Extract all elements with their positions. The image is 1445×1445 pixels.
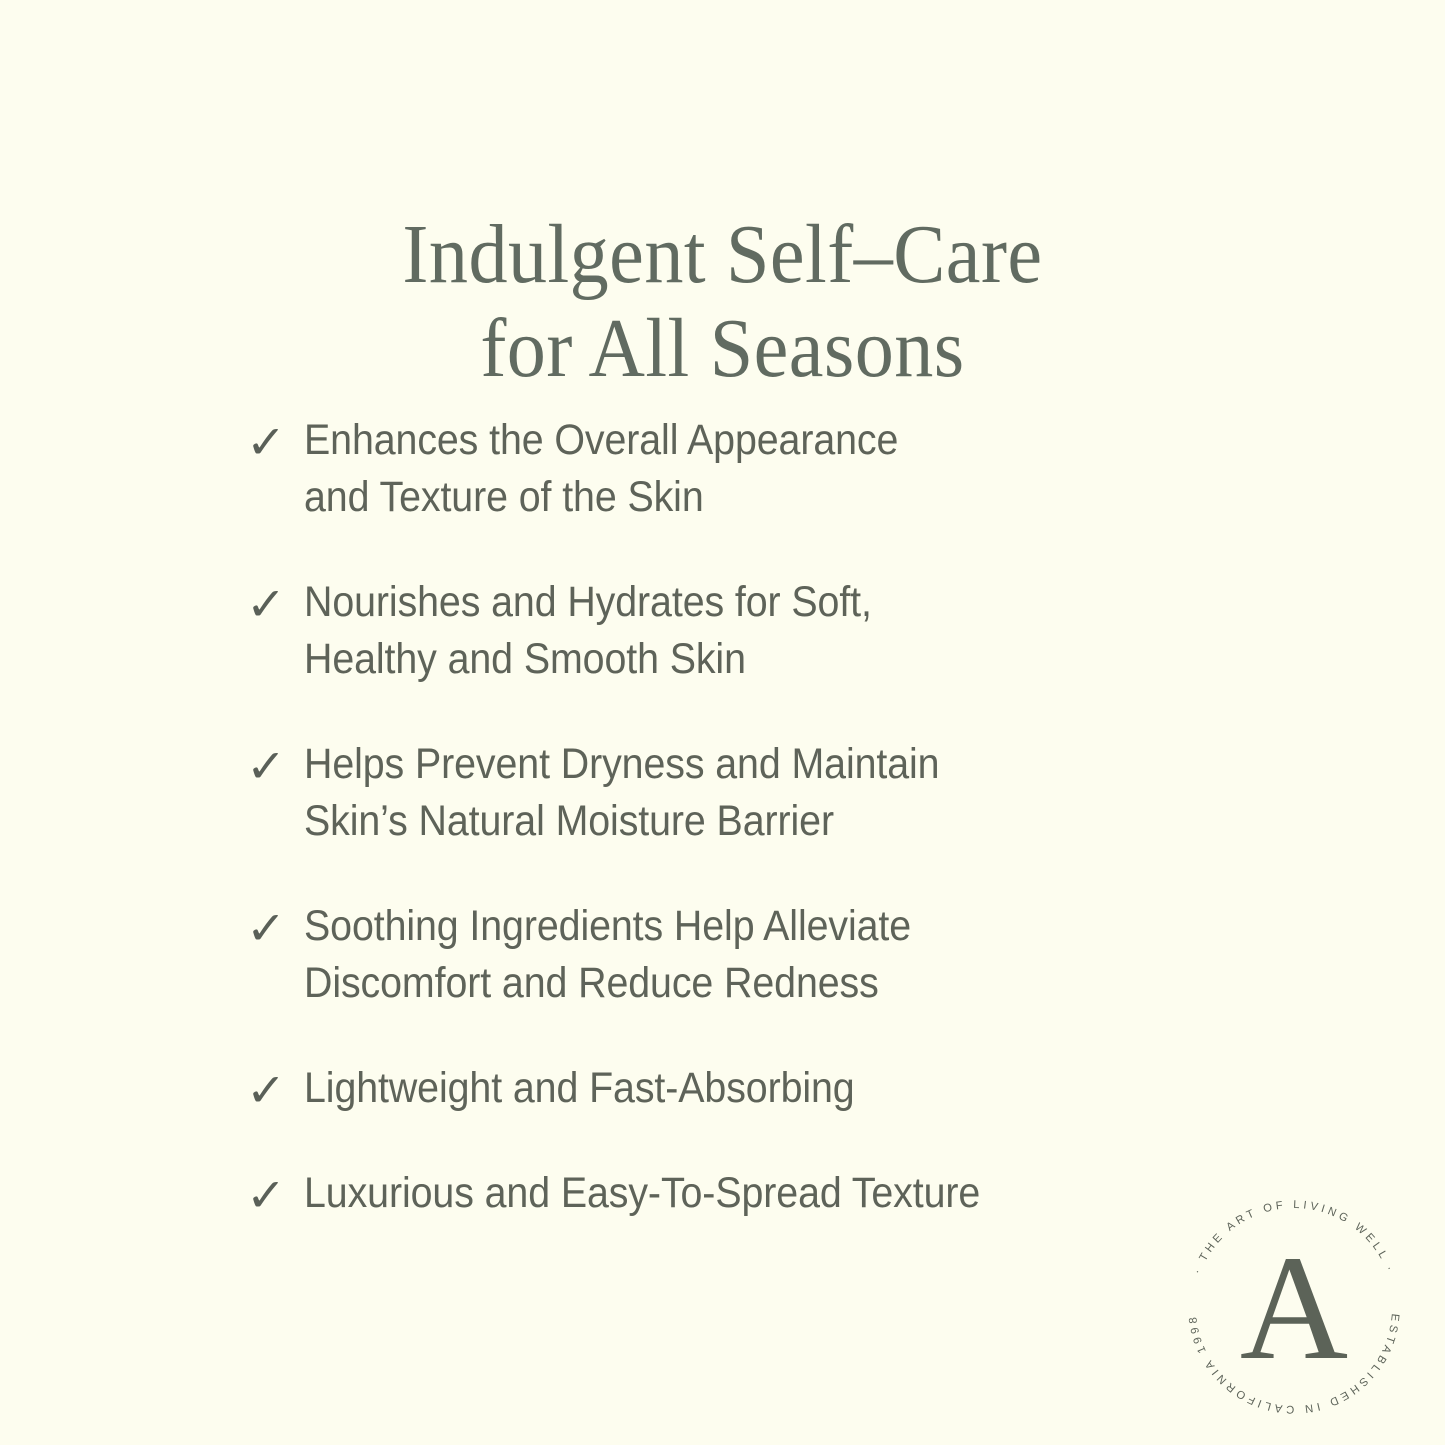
- benefit-line: Enhances the Overall Appearance: [304, 412, 1056, 469]
- benefit-line: and Texture of the Skin: [304, 469, 1056, 526]
- check-icon: ✓: [246, 1169, 306, 1221]
- check-icon: ✓: [246, 902, 306, 954]
- list-item: ✓ Luxurious and Easy-To-Spread Texture: [246, 1165, 1126, 1222]
- page-title-line-1: Indulgent Self–Care: [51, 208, 1395, 302]
- page-title: Indulgent Self–Care for All Seasons: [51, 208, 1395, 396]
- benefit-line: Skin’s Natural Moisture Barrier: [304, 793, 1056, 850]
- check-icon: ✓: [246, 740, 306, 792]
- page-title-line-2: for All Seasons: [51, 302, 1395, 396]
- benefits-list: ✓ Enhances the Overall Appearance and Te…: [246, 412, 1126, 1222]
- benefit-text: Soothing Ingredients Help Alleviate Disc…: [304, 898, 1056, 1012]
- benefit-line: Soothing Ingredients Help Alleviate: [304, 898, 1056, 955]
- badge-monogram-letter: A: [1240, 1225, 1348, 1391]
- benefit-text: Enhances the Overall Appearance and Text…: [304, 412, 1056, 526]
- benefit-text: Helps Prevent Dryness and Maintain Skin’…: [304, 736, 1056, 850]
- brand-badge-svg: · THE ART OF LIVING WELL · ESTABLISHED I…: [1178, 1192, 1410, 1424]
- check-icon: ✓: [246, 1064, 306, 1116]
- brand-badge: · THE ART OF LIVING WELL · ESTABLISHED I…: [1178, 1192, 1410, 1424]
- benefit-line: Discomfort and Reduce Redness: [304, 955, 1056, 1012]
- check-icon: ✓: [246, 578, 306, 630]
- list-item: ✓ Helps Prevent Dryness and Maintain Ski…: [246, 736, 1126, 850]
- poster-canvas: Indulgent Self–Care for All Seasons ✓ En…: [0, 0, 1445, 1445]
- benefit-line: Nourishes and Hydrates for Soft,: [304, 574, 1056, 631]
- benefit-text: Lightweight and Fast-Absorbing: [304, 1060, 1056, 1117]
- list-item: ✓ Nourishes and Hydrates for Soft, Healt…: [246, 574, 1126, 688]
- list-item: ✓ Soothing Ingredients Help Alleviate Di…: [246, 898, 1126, 1012]
- list-item: ✓ Enhances the Overall Appearance and Te…: [246, 412, 1126, 526]
- check-icon: ✓: [246, 416, 306, 468]
- benefit-line: Healthy and Smooth Skin: [304, 631, 1056, 688]
- list-item: ✓ Lightweight and Fast-Absorbing: [246, 1060, 1126, 1117]
- benefit-line: Luxurious and Easy-To-Spread Texture: [304, 1165, 1056, 1222]
- benefit-text: Luxurious and Easy-To-Spread Texture: [304, 1165, 1056, 1222]
- benefit-line: Helps Prevent Dryness and Maintain: [304, 736, 1056, 793]
- benefit-line: Lightweight and Fast-Absorbing: [304, 1060, 1056, 1117]
- benefit-text: Nourishes and Hydrates for Soft, Healthy…: [304, 574, 1056, 688]
